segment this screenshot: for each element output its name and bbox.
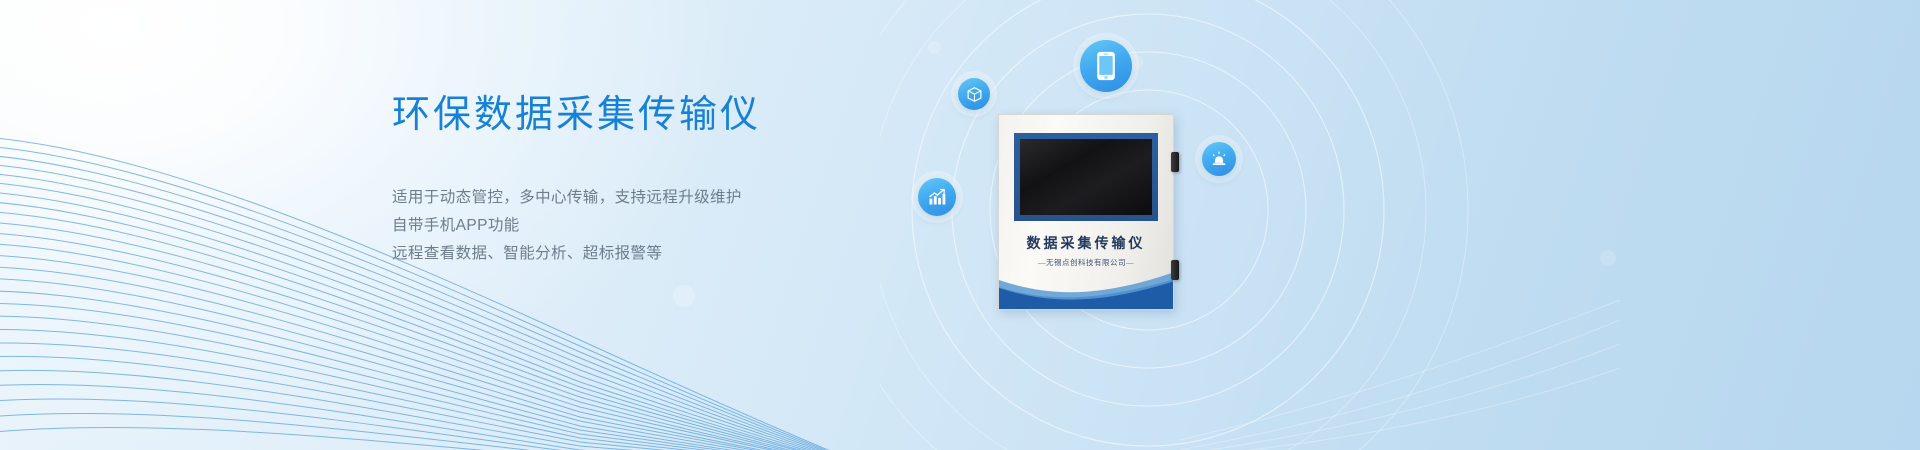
device-photo: 数据采集传输仪 —无锡点创科技有限公司— [998,114,1174,310]
radiating-arcs-decoration [880,0,1620,450]
subtitle-line-3: 远程查看数据、智能分析、超标报警等 [392,240,912,268]
device-brand-text: 数据采集传输仪 [999,233,1173,253]
chart-icon[interactable] [918,178,956,216]
subtitle-line-1: 适用于动态管控，多中心传输，支持远程升级维护 [392,184,912,212]
bokeh-dot [673,285,695,307]
bokeh-dot [208,110,226,128]
device-hinge-top [1171,152,1179,172]
device-screen-bezel [1014,133,1158,221]
device-hinge-bottom [1171,260,1179,280]
product-banner: 环保数据采集传输仪 适用于动态管控，多中心传输，支持远程升级维护 自带手机APP… [0,0,1920,450]
device-bottom-wave [999,267,1173,309]
cube-icon[interactable] [958,78,990,110]
phone-icon[interactable] [1080,40,1132,92]
alarm-icon[interactable] [1202,142,1236,176]
subtitle-list: 适用于动态管控，多中心传输，支持远程升级维护 自带手机APP功能 远程查看数据、… [392,184,912,268]
banner-copy: 环保数据采集传输仪 适用于动态管控，多中心传输，支持远程升级维护 自带手机APP… [392,92,912,268]
page-title: 环保数据采集传输仪 [392,92,912,140]
product-visual: 数据采集传输仪 —无锡点创科技有限公司— [880,0,1620,450]
subtitle-line-2: 自带手机APP功能 [392,212,912,240]
device-screen [1020,139,1152,215]
device-body: 数据采集传输仪 —无锡点创科技有限公司— [998,114,1174,310]
device-label: 数据采集传输仪 —无锡点创科技有限公司— [999,233,1173,268]
